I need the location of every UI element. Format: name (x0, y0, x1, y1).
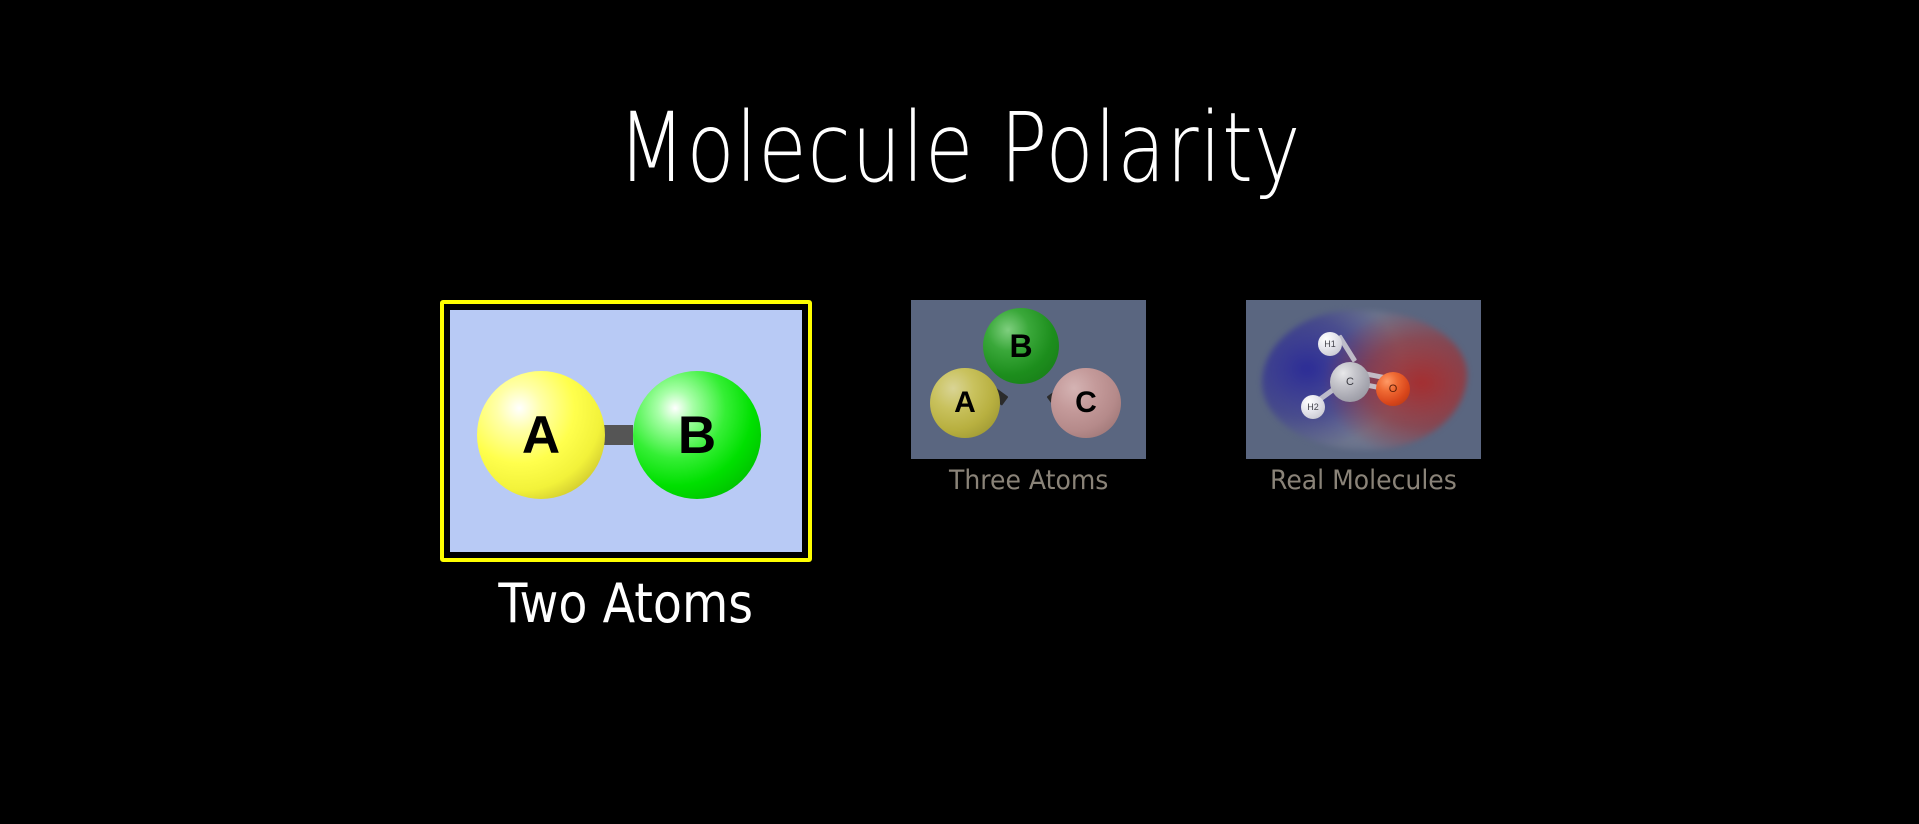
atom-c: C (1051, 368, 1121, 438)
screen-button-real-molecules[interactable]: H1 C H2 O Real Molecules (1246, 300, 1481, 496)
screen-thumbnail-real-molecules[interactable]: H1 C H2 O (1246, 300, 1481, 459)
screen-label-two-atoms: Two Atoms (499, 572, 754, 635)
two-atoms-scene: A B (450, 310, 802, 552)
atom-o: O (1376, 372, 1410, 406)
atom-h1: H1 (1318, 332, 1342, 356)
screen-label-three-atoms: Three Atoms (949, 465, 1108, 496)
screen-thumbnail-three-atoms[interactable]: A B C (911, 300, 1146, 459)
real-molecules-scene: H1 C H2 O (1246, 300, 1481, 459)
screen-label-real-molecules: Real Molecules (1270, 465, 1457, 496)
atom-b: B (983, 308, 1059, 384)
atom-h2: H2 (1301, 395, 1325, 419)
atom-a: A (930, 368, 1000, 438)
screen-button-three-atoms[interactable]: A B C Three Atoms (911, 300, 1146, 496)
atom-a: A (477, 371, 605, 499)
page-title: Molecule Polarity (173, 96, 1747, 202)
screen-button-two-atoms[interactable]: A B Two Atoms (440, 300, 812, 635)
bond-a-b (601, 425, 633, 445)
atom-c: C (1330, 362, 1370, 402)
atom-b: B (633, 371, 761, 499)
screen-thumbnail-two-atoms[interactable]: A B (440, 300, 812, 562)
screen-chooser: A B Two Atoms A B C Three Atoms (0, 300, 1919, 630)
three-atoms-scene: A B C (911, 300, 1146, 459)
